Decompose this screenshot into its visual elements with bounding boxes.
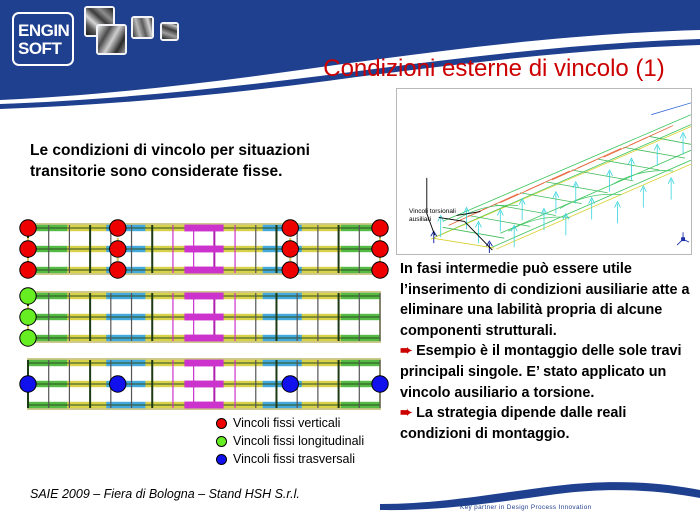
logo-line-2: SOFT <box>18 40 61 57</box>
legend-item-vertical: Vincoli fissi verticali <box>216 414 364 432</box>
legend-label-transversal: Vincoli fissi trasversali <box>233 452 355 466</box>
legend-item-transversal: Vincoli fissi trasversali <box>216 450 364 468</box>
photo-thumbnail-2 <box>96 24 127 55</box>
legend-dot-green <box>216 436 227 447</box>
enginsoft-logo: ENGIN SOFT <box>12 12 74 66</box>
legend-label-vertical: Vincoli fissi verticali <box>233 416 340 430</box>
legend-dot-blue <box>216 454 227 465</box>
photo-thumbnail-4 <box>160 22 179 41</box>
axis-triad-icon <box>677 232 689 245</box>
photo-thumbnail-3 <box>131 16 154 39</box>
fem-annotation-label: Vincoli torsionali ausiliari <box>409 208 456 224</box>
fem-wireframe <box>397 89 691 254</box>
right-bullet-2: La strategia dipende dalle reali condizi… <box>400 405 626 442</box>
bullet-arrow-2: ➨ <box>400 405 412 421</box>
slide-title: Condizioni esterne di vincolo (1) <box>296 56 692 82</box>
right-bullet-1: Esempio è il montaggio delle sole travi … <box>400 343 682 400</box>
diagram-restraints-longitudinal <box>10 286 398 348</box>
bullet-arrow-1: ➨ <box>400 343 412 359</box>
ladder-graphic-3 <box>10 353 398 415</box>
restraint-legend: Vincoli fissi verticali Vincoli fissi lo… <box>216 414 364 468</box>
ladder-graphic-2 <box>10 286 398 348</box>
lead-paragraph: Le condizioni di vincolo per situazioni … <box>30 140 360 182</box>
right-paragraph-1: In fasi intermedie può essere utile l’in… <box>400 261 689 339</box>
legend-item-longitudinal: Vincoli fissi longitudinali <box>216 432 364 450</box>
right-text-block: In fasi intermedie può essere utile l’in… <box>400 259 696 444</box>
logo-line-1: ENGIN <box>18 22 69 39</box>
diagram-restraints-vertical <box>10 218 398 280</box>
slide-canvas: ENGIN SOFT Condizioni esterne di vincolo… <box>0 0 700 525</box>
footer-tagline: Key partner in Design Process Innovation <box>460 504 592 511</box>
legend-dot-red <box>216 418 227 429</box>
footer-swoosh-graphic <box>380 478 700 525</box>
legend-label-longitudinal: Vincoli fissi longitudinali <box>233 434 364 448</box>
ladder-graphic-1 <box>10 218 398 280</box>
fem-model-image: Vincoli torsionali ausiliari <box>396 88 692 255</box>
footer-note: SAIE 2009 – Fiera di Bologna – Stand HSH… <box>30 487 300 501</box>
diagram-restraints-transversal <box>10 353 398 415</box>
